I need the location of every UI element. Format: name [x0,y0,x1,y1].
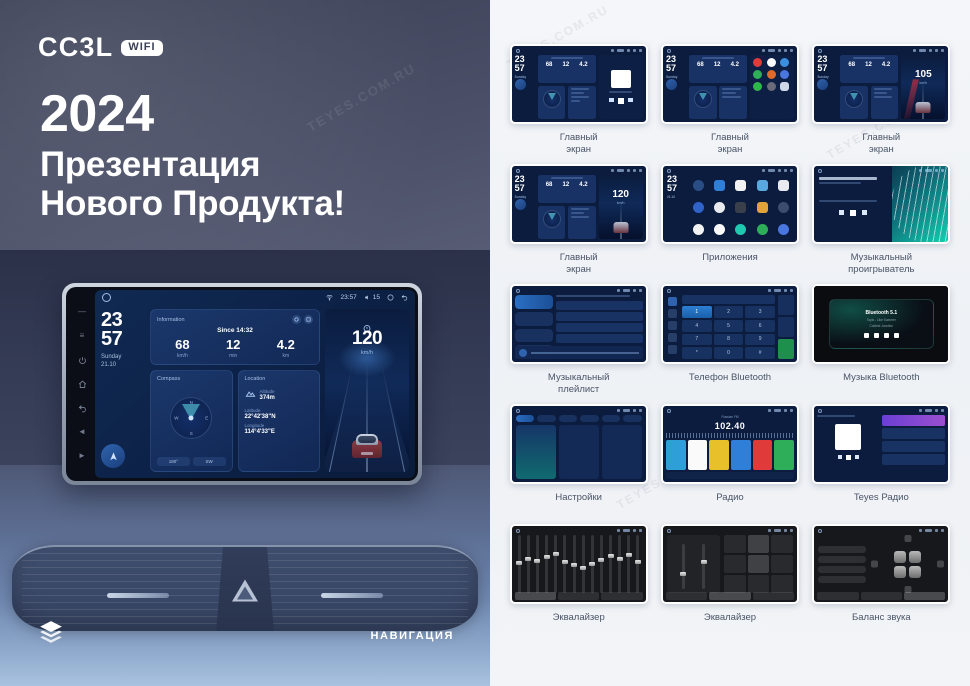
thumbnail-home-speed[interactable]: 2357Sunday 68124.2 105 km/h [812,44,950,124]
stat-item: 4.2 km [277,338,295,359]
gallery-caption: Радио [716,492,743,504]
thumb-home-layout: 2357 Sunday 68124.2 [515,55,643,119]
gallery-item[interactable]: 2357Sunday 68124.2 105 km/h [811,44,952,164]
widgets-column: Information [150,309,320,472]
information-since: Since 14:32 [157,327,313,334]
teyes-now-playing [817,415,878,479]
dialer-keypad[interactable]: 123 456 789 *0# [682,306,775,359]
gallery-item[interactable]: 2357Sunday 68124.2 [659,44,800,164]
gallery-item[interactable]: 123 456 789 *0# Телефон Bluetooth [659,284,800,404]
home-screen-content: 23 57 Sunday 21.10 [95,305,415,478]
equalizer-tabs[interactable] [817,592,945,600]
status-time: 23:57 [340,294,356,301]
information-header: Information [157,315,313,324]
stat-item: 68 km/h [175,338,189,359]
navigation-arrow-icon[interactable] [101,444,125,468]
balance-pad[interactable] [871,535,944,593]
gallery-item[interactable]: Музыкальныйпроигрыватель [811,164,952,284]
gallery-caption: Музыкальныйплейлист [548,372,609,396]
vent-highlight [107,593,169,598]
thumb-app-shortcuts [750,55,794,119]
hotspot-panel[interactable] [559,425,599,479]
home-key[interactable] [77,379,88,390]
gallery-caption: Музыкальныйпроигрыватель [848,252,914,276]
expand-icon[interactable] [304,315,313,324]
home-circle-icon[interactable] [102,293,111,302]
information-card[interactable]: Information [150,309,320,365]
teyes-station-list[interactable] [882,415,946,479]
radio-presets[interactable] [666,440,794,470]
seat-diagram [894,551,921,578]
balance-faders[interactable] [667,535,720,593]
latitude-value: 22°42'38"N [245,414,314,420]
thumb-media-widget [599,55,643,119]
thumbnail-radio[interactable]: Russian FM 102.40 [661,404,799,484]
head-unit-screen[interactable]: 23:57 15 [95,290,415,478]
thumb-status-bar [512,46,646,55]
radio-frequency: 102.40 [666,421,794,431]
clock-date: 21.10 [101,361,145,369]
equalizer-faders[interactable] [516,535,642,593]
volume-down-key[interactable]: — [77,307,88,318]
stat-unit: km/h [175,353,189,359]
stat-unit: min [226,353,240,359]
thumbnail-equalizer-presets[interactable] [661,524,799,604]
gallery-item[interactable]: Teyes Радио [811,404,952,524]
app-icon-grid [689,175,793,239]
air-vent-bar [12,545,478,631]
vent-highlight [321,593,383,598]
speed-value: 120 [325,329,409,348]
location-title: Location [245,376,314,382]
gallery-caption: Главныйэкран [711,132,749,156]
information-actions [292,315,313,324]
information-title: Information [157,317,185,323]
power-key[interactable] [77,355,88,366]
hazard-button[interactable] [216,547,274,631]
speed-panel[interactable]: 120 km/h [325,309,409,472]
head-unit-device: — ≡ ◄ ► [62,283,422,485]
music-visualizer [892,166,948,242]
hero-panel: TEYES.COM.RU TEYES.COM.RU TEYES.COM.RU C… [0,0,490,686]
equalizer-tabs[interactable] [515,592,643,600]
dialer-actions[interactable] [778,295,794,359]
balance-right-arrow[interactable] [937,561,944,568]
compass-west: W [174,416,178,421]
information-stats: 68 km/h 12 min 4.2 km [157,338,313,359]
presentation-slide: TEYES.COM.RU TEYES.COM.RU TEYES.COM.RU C… [0,0,970,686]
longitude-block: Longitude 114°4'33"E [245,423,314,435]
balance-left-arrow[interactable] [871,561,878,568]
thumbnail-home-speed-blue[interactable]: 2357Sunday 68124.2 120 km/h [510,164,648,244]
stat-unit: km [277,353,295,359]
thumbnail-bt-music[interactable]: Bluetooth 5.1 Topic - Like Summer Coldes… [812,284,950,364]
gallery-caption: Приложения [702,252,758,264]
volume-level: 15 [373,294,380,301]
hazard-triangle-icon [232,579,258,601]
compass-dial: N E S W [157,382,226,454]
latitude-block: Latitude 22°42'38"N [245,408,314,420]
apps-icon[interactable] [387,294,394,301]
speed-unit: km/h [325,350,409,356]
stat-value: 4.2 [277,338,295,351]
gallery-item[interactable]: Баланс звука [811,524,952,644]
gallery-grid: 2357 Sunday 68124.2 [508,44,952,644]
headline-line2: Нового Продукта! [40,184,345,223]
screenshot-gallery: TEYES.COM.RU TEYES.COM.RU TEYES.COM.RU 2… [490,0,970,686]
preset-buttons[interactable] [724,535,793,593]
music-info-pane [814,166,892,242]
hardware-button-strip[interactable]: — ≡ ◄ ► [69,290,95,478]
thumbnail-music-player[interactable] [812,164,950,244]
nav-label: НАВИГАЦИЯ [371,630,454,642]
status-bar: 23:57 15 [95,290,415,305]
widgets-row: Compass N E S W [150,370,320,472]
equalizer-tabs[interactable] [666,592,794,600]
longitude-value: 114°4'33"E [245,429,314,435]
more-panel[interactable] [602,425,642,479]
brand-logo: CC3L WIFI [38,32,163,63]
gallery-caption: Баланс звука [852,612,911,624]
bt-music-card: Bluetooth 5.1 Topic - Like Summer Coldes… [829,299,934,349]
gallery-caption: Teyes Радио [854,492,909,504]
clock-minutes: 57 [101,330,145,349]
thumbnail-home-media[interactable]: 2357 Sunday 68124.2 [510,44,648,124]
wifi-badge: WIFI [121,40,162,56]
headline-year: 2024 [40,88,345,141]
thumbnail-settings[interactable] [510,404,648,484]
bt-transport-controls[interactable] [864,333,899,338]
clock-widget[interactable]: 23 57 Sunday 21.10 [101,311,145,370]
bt-artist: Coldest Junction [870,324,894,328]
wifi-icon [326,294,333,301]
altitude-label: Altitude [260,389,275,394]
thumb-speed-widget: 120 km/h [599,175,643,239]
gallery-item[interactable]: 2357 Sunday 68124.2 [508,44,649,164]
head-unit-frame: — ≡ ◄ ► [66,287,418,481]
thumbnail-teyes-radio[interactable] [812,404,950,484]
thumb-clock: 2357 Sunday [515,55,535,119]
clock-column: 23 57 Sunday 21.10 [101,309,145,472]
gallery-item[interactable]: 2357Sunday 68124.2 120 km/h Главн [508,164,649,284]
compass-rose: N E S W [170,397,212,439]
gallery-item[interactable]: Настройки [508,404,649,524]
compass-heading: 180° [157,457,190,466]
layers-icon[interactable] [38,619,64,650]
back-arrow-icon[interactable] [401,294,408,301]
gallery-item[interactable]: Эквалайзер [508,524,649,644]
altitude-value: 374m [260,395,275,401]
clock-weekday: Sunday [101,353,145,361]
balance-presets[interactable] [818,535,866,593]
radio-tuning-scale[interactable] [666,433,794,438]
gallery-caption: Главныйэкран [560,252,598,276]
bt-track: Topic - Like Summer [867,318,896,322]
status-bar-right: 23:57 15 [326,294,408,301]
thumbnail-home-apps[interactable]: 2357Sunday 68124.2 [661,44,799,124]
stat-item: 12 min [226,338,240,359]
bt-version: Bluetooth 5.1 [865,310,897,316]
location-card[interactable]: Location Altitude 374m [238,370,321,472]
thumb-speed-widget: 105 km/h [901,55,945,119]
gallery-caption: Эквалайзер [704,612,756,624]
gallery-item[interactable]: Russian FM 102.40 [659,404,800,524]
dialer-sidebar [666,295,679,359]
thumb-speed-unit: km/h [901,81,945,85]
mic-key[interactable]: ◄ [77,427,88,438]
gallery-item[interactable]: Эквалайзер [659,524,800,644]
gallery-item[interactable]: Bluetooth 5.1 Topic - Like Summer Coldes… [811,284,952,404]
thumb-nav-fab [515,79,526,90]
car-window [358,436,376,443]
gallery-caption: Главныйэкран [560,132,598,156]
thumb-speed-unit: km/h [599,201,643,205]
gallery-item[interactable]: Музыкальныйплейлист [508,284,649,404]
radio-toolbar[interactable] [666,472,794,479]
mountain-icon [245,386,256,404]
longitude-label: Longitude [245,423,314,428]
compass-south: S [190,431,193,436]
thumbnail-music-playlist[interactable] [510,284,648,364]
thumbnail-equalizer-faders[interactable] [510,524,648,604]
compass-direction: SW [193,457,226,466]
volume-indicator[interactable]: 15 [364,294,380,301]
seek-key[interactable]: ► [77,451,88,462]
compass-readouts: 180° SW [157,457,226,466]
back-key[interactable] [77,403,88,414]
altitude-block: Altitude 374m [260,389,275,401]
thumb-speed-value: 105 [901,69,945,80]
refresh-icon[interactable] [292,315,301,324]
compass-east: E [205,416,208,421]
gallery-caption: Главныйэкран [862,132,900,156]
compass-north: N [190,400,193,405]
thumbnail-sound-balance[interactable] [812,524,950,604]
balance-up-arrow[interactable] [904,535,911,542]
page-title: 2024 Презентация Нового Продукта! [40,88,345,223]
gallery-caption: Эквалайзер [553,612,605,624]
thumb-widgets: 68124.2 [538,55,596,119]
gallery-caption: Телефон Bluetooth [689,372,771,384]
thumbnail-app-drawer[interactable]: 235721.10 [661,164,799,244]
latitude-label: Latitude [245,408,314,413]
altitude-row: Altitude 374m [245,386,314,404]
thumb-speed-value: 120 [599,189,643,200]
thumbnail-bt-phone[interactable]: 123 456 789 *0# [661,284,799,364]
headline-line1: Презентация [40,145,345,184]
wifi-panel[interactable] [516,425,556,479]
stat-value: 12 [226,338,240,351]
compass-center [189,416,194,421]
car-plate [361,452,373,455]
radio-band: Russian FM [666,415,794,419]
compass-card[interactable]: Compass N E S W [150,370,233,472]
settings-panels [516,425,642,479]
gallery-caption: Музыка Bluetooth [843,372,919,384]
brand-model: CC3L [38,32,113,63]
stat-value: 68 [175,338,189,351]
gallery-item[interactable]: 235721.10 Приложения [659,164,800,284]
car-model-3d [352,432,382,458]
status-bar-left [102,293,319,302]
gallery-caption: Настройки [555,492,602,504]
volume-up-key[interactable]: ≡ [77,331,88,342]
settings-tabs[interactable] [516,415,642,422]
